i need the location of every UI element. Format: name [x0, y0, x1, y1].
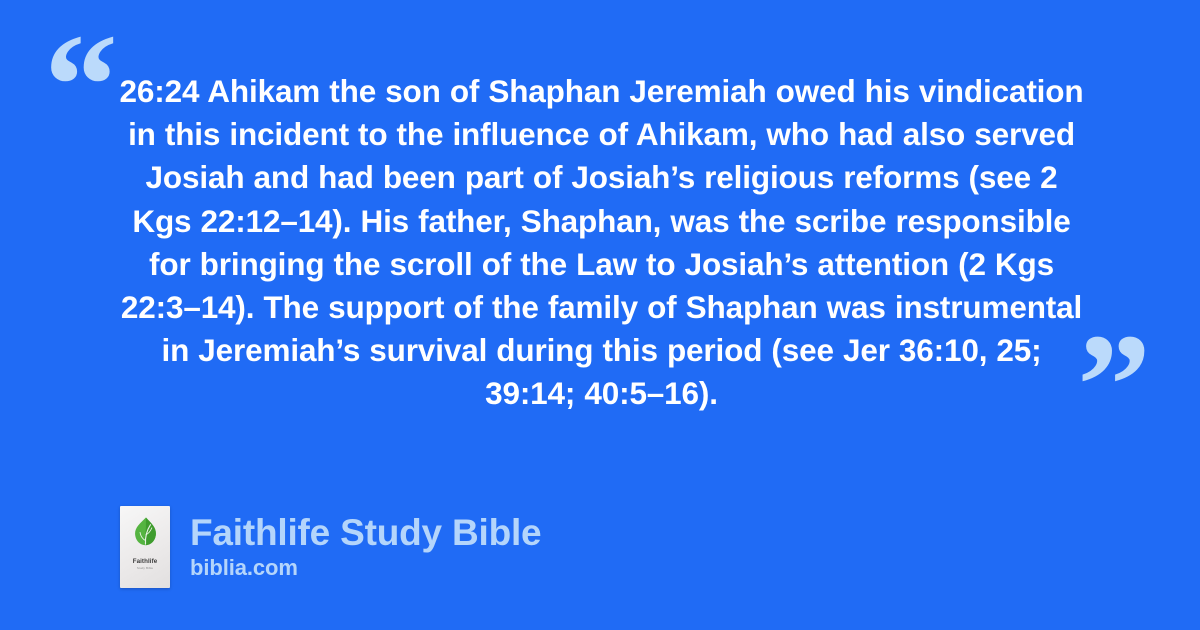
brand-text-group: Faithlife Study Bible biblia.com [190, 513, 541, 581]
brand-url[interactable]: biblia.com [190, 555, 541, 581]
green-leaf-flame-icon [134, 517, 157, 546]
opening-quote-icon: “ [44, 12, 118, 160]
footer-branding: Faithlife Study Bible Faithlife Study Bi… [120, 506, 541, 588]
book-cover-title: Faithlife [133, 559, 158, 565]
closing-quote-icon: ” [1077, 312, 1151, 460]
quote-text: 26:24 Ahikam the son of Shaphan Jeremiah… [114, 70, 1089, 416]
quote-card: “ 26:24 Ahikam the son of Shaphan Jeremi… [0, 0, 1200, 630]
book-cover-thumbnail: Faithlife Study Bible [120, 506, 170, 588]
brand-title: Faithlife Study Bible [190, 513, 541, 553]
book-cover-subtitle: Study Bible [137, 567, 153, 570]
